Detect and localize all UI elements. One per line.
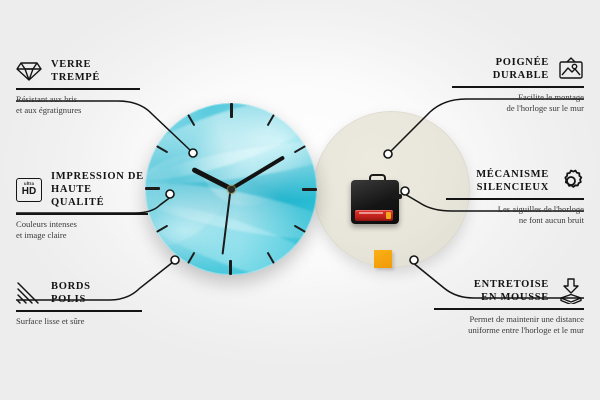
feature-sub-line1: Surface lisse et sûre <box>16 316 142 327</box>
polished-edge-icon <box>16 280 42 306</box>
connector-dot-entretoise <box>410 256 418 264</box>
feature-mecanisme-silencieux: MÉCANISME SILENCIEUX Les aiguilles de l'… <box>446 168 584 226</box>
feature-impression-haute-qualite: ultra HD IMPRESSION DE HAUTE QUALITÉ Cou… <box>16 170 148 241</box>
gear-icon <box>558 168 584 194</box>
feature-sub-line2: de l'horloge sur le mur <box>452 103 584 114</box>
diamond-icon <box>16 58 42 84</box>
feature-entretoise-en-mousse: ENTRETOISE EN MOUSSE Permet de maintenir… <box>434 278 584 336</box>
connector-dot-bords <box>171 256 179 264</box>
divider <box>446 198 584 200</box>
feature-title-line2: HAUTE QUALITÉ <box>51 183 148 209</box>
feature-title-line1: VERRE <box>51 58 100 71</box>
feature-sub-line2: ne font aucun bruit <box>446 215 584 226</box>
feature-title-line2: SILENCIEUX <box>476 181 549 194</box>
feature-title-line1: BORDS <box>51 280 91 293</box>
feature-title-line2: EN MOUSSE <box>474 291 549 304</box>
connector-dot-impression <box>166 190 174 198</box>
foam-spacer-icon <box>558 278 584 304</box>
feature-bords-polis: BORDS POLIS Surface lisse et sûre <box>16 280 142 327</box>
feature-title-line2: POLIS <box>51 293 91 306</box>
feature-sub-line1: Permet de maintenir une distance <box>434 314 584 325</box>
feature-sub-line1: Couleurs intenses <box>16 219 148 230</box>
feature-sub-line2: uniforme entre l'horloge et le mur <box>434 325 584 336</box>
feature-sub-line2: et aux égratignures <box>16 105 140 116</box>
feature-title-line2: DURABLE <box>493 69 549 82</box>
feature-sub-line1: Facilite le montage <box>452 92 584 103</box>
feature-title-line1: MÉCANISME <box>476 168 549 181</box>
feature-sub-line1: Les aiguilles de l'horloge <box>446 204 584 215</box>
connector-dot-poignee <box>384 150 392 158</box>
divider <box>434 308 584 310</box>
divider <box>16 88 140 90</box>
feature-title-line1: POIGNÉE <box>493 56 549 69</box>
feature-poignee-durable: POIGNÉE DURABLE Facilite le montage de l… <box>452 56 584 114</box>
connector-dot-mecanisme <box>401 187 409 195</box>
ultra-hd-icon: ultra HD <box>16 177 42 203</box>
ultra-hd-main-label: HD <box>22 187 36 197</box>
picture-hanger-icon <box>558 56 584 82</box>
divider <box>452 86 584 88</box>
infographic-canvas: VERRE TREMPÉ Résistant aux bris et aux é… <box>0 0 600 400</box>
feature-verre-trempe: VERRE TREMPÉ Résistant aux bris et aux é… <box>16 58 140 116</box>
feature-title-line1: IMPRESSION DE <box>51 170 148 183</box>
divider <box>16 213 148 215</box>
feature-sub-line2: et image claire <box>16 230 148 241</box>
feature-title-line1: ENTRETOISE <box>474 278 549 291</box>
feature-title-line2: TREMPÉ <box>51 71 100 84</box>
divider <box>16 310 142 312</box>
feature-sub-line1: Résistant aux bris <box>16 94 140 105</box>
connector-dot-verre <box>189 149 197 157</box>
